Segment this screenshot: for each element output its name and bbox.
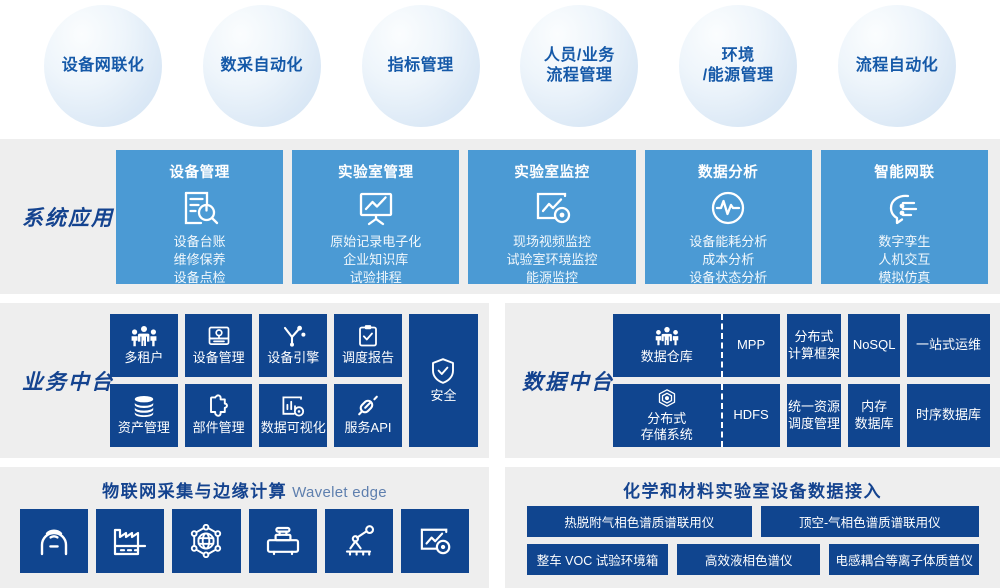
document-search-icon — [179, 187, 221, 229]
app-card-lab-monitoring[interactable]: 实验室监控 现场视频监控 试验室环境监控 能源监控 — [468, 150, 635, 284]
tile-unified-resource-scheduling[interactable]: 统一资源 调度管理 — [787, 384, 842, 447]
tile-label: 统一资源 调度管理 — [788, 399, 840, 432]
app-card-bullets: 数字孪生 人机交互 模拟仿真 — [878, 233, 930, 287]
data-platform-grid: 数据仓库 MPP 分布式 计算框架 NoSQL 一站式运维 — [613, 314, 990, 447]
multi-tenant-people-icon — [131, 325, 157, 347]
capability-bubble[interactable]: 环境 /能源管理 — [679, 5, 797, 127]
business-platform-section: 业务中台 多租户 — [0, 303, 489, 458]
tile-one-stop-ops[interactable]: 一站式运维 — [907, 314, 990, 377]
lab-chip-instrument[interactable]: 顶空-气相色谱质谱联用仪 — [761, 506, 979, 537]
app-card-equipment-management[interactable]: 设备管理 设备台账 维修保养 设备 — [116, 150, 283, 284]
lab-data-access-heading: 化学和材料实验室设备数据接入 — [505, 467, 1000, 502]
ai-head-icon — [883, 187, 925, 229]
app-card-title: 智能网联 — [874, 161, 934, 182]
tile-label: 资产管理 — [118, 420, 170, 436]
tile-label: 多租户 — [124, 350, 163, 366]
app-card-bullet: 设备状态分析 — [689, 269, 767, 287]
app-card-bullet: 能源监控 — [507, 269, 598, 287]
app-card-bullets: 设备能耗分析 成本分析 设备状态分析 — [689, 233, 767, 287]
lab-data-access-section: 化学和材料实验室设备数据接入 热脱附气相色谱质谱联用仪 顶空-气相色谱质谱联用仪… — [505, 467, 1000, 588]
tile-in-memory-database[interactable]: 内存 数据库 — [848, 384, 900, 447]
iot-tile-network[interactable] — [172, 509, 240, 573]
tile-multi-tenant[interactable]: 多租户 — [110, 314, 178, 377]
app-card-intelligent-connectivity[interactable]: 智能网联 数字孪生 人机交互 模拟仿真 — [821, 150, 988, 284]
tile-service-api[interactable]: 服务API — [334, 384, 402, 447]
distributed-storage-icon — [656, 388, 678, 408]
tile-label: HDFS — [733, 407, 768, 423]
app-card-bullet: 人机交互 — [878, 251, 930, 269]
tile-label: 内存 数据库 — [855, 399, 894, 432]
tile-label: 分布式 存储系统 — [641, 411, 693, 444]
lab-data-access-title: 化学和材料实验室设备数据接入 — [623, 482, 882, 501]
app-card-bullet: 试验排程 — [330, 269, 421, 287]
iot-tile-row — [20, 509, 469, 573]
iot-edge-title: 物联网采集与边缘计算 — [102, 482, 287, 501]
tile-security[interactable]: 安全 — [409, 314, 478, 447]
app-card-bullet: 现场视频监控 — [507, 233, 598, 251]
tile-label: 调度报告 — [342, 350, 394, 366]
lab-chip-instrument[interactable]: 电感耦合等离子体质普仪 — [829, 544, 979, 575]
architecture-diagram: 设备网联化 数采自动化 指标管理 人员/业务 流程管理 环境 /能源管理 流程自… — [0, 0, 1000, 588]
capability-bubble[interactable]: 指标管理 — [362, 5, 480, 127]
tile-label: 服务API — [345, 420, 392, 436]
lab-chip-instrument[interactable]: 整车 VOC 试验环境箱 — [527, 544, 668, 575]
iot-tile-factory[interactable] — [96, 509, 164, 573]
section-label-system-applications: 系统应用 — [22, 202, 114, 232]
device-server-icon — [207, 325, 231, 347]
pulse-circle-icon — [707, 187, 749, 229]
app-card-data-analysis[interactable]: 数据分析 设备能耗分析 成本分析 设备状态分析 — [645, 150, 812, 284]
app-card-lab-management[interactable]: 实验室管理 原始记录电子化 企业知识库 试验排程 — [292, 150, 459, 284]
iot-tile-gateway[interactable] — [20, 509, 88, 573]
tile-label: 数据仓库 — [641, 349, 693, 365]
clipboard-check-icon — [357, 324, 379, 347]
wifi-gateway-icon — [37, 525, 71, 557]
tile-distributed-storage[interactable]: 分布式 存储系统 — [613, 384, 721, 447]
monitor-chart-icon — [418, 526, 452, 556]
tile-label: 数据可视化 — [261, 420, 326, 436]
app-card-title: 数据分析 — [698, 161, 758, 182]
capability-label: 指标管理 — [388, 56, 454, 76]
iot-edge-heading: 物联网采集与边缘计算Wavelet edge — [0, 467, 489, 502]
lab-chip-rows: 热脱附气相色谱质谱联用仪 顶空-气相色谱质谱联用仪 整车 VOC 试验环境箱 高… — [527, 506, 979, 582]
iot-tile-robot-arm[interactable] — [325, 509, 393, 573]
capability-label: 人员/业务 流程管理 — [544, 46, 615, 87]
app-card-bullet: 原始记录电子化 — [330, 233, 421, 251]
presentation-chart-icon — [355, 187, 397, 229]
tile-data-warehouse[interactable]: 数据仓库 — [613, 314, 721, 377]
app-card-title: 实验室监控 — [514, 161, 590, 182]
top-capability-row: 设备网联化 数采自动化 指标管理 人员/业务 流程管理 环境 /能源管理 流程自… — [0, 0, 1000, 132]
tile-label: 部件管理 — [193, 420, 245, 436]
robot-arm-icon — [342, 525, 376, 557]
tile-device-engine[interactable]: 设备引擎 — [259, 314, 327, 377]
capability-label: 设备网联化 — [62, 56, 145, 76]
tile-device-management[interactable]: 设备管理 — [185, 314, 253, 377]
tile-label: NoSQL — [853, 337, 896, 353]
lab-chip-instrument[interactable]: 热脱附气相色谱质谱联用仪 — [527, 506, 752, 537]
tile-label: 一站式运维 — [916, 337, 981, 353]
plug-connect-icon — [355, 395, 381, 417]
tile-label: MPP — [737, 337, 765, 353]
business-platform-grid: 多租户 设备管理 — [110, 314, 478, 447]
app-card-bullet: 成本分析 — [689, 251, 767, 269]
app-card-bullet: 数字孪生 — [878, 233, 930, 251]
tile-mpp[interactable]: MPP — [721, 314, 780, 377]
tile-distributed-computing-framework[interactable]: 分布式 计算框架 — [787, 314, 842, 377]
lab-chip-row: 热脱附气相色谱质谱联用仪 顶空-气相色谱质谱联用仪 — [527, 506, 979, 537]
tile-nosql[interactable]: NoSQL — [848, 314, 900, 377]
app-card-bullet: 维修保养 — [174, 251, 226, 269]
network-globe-icon — [189, 524, 223, 558]
lab-chip-row: 整车 VOC 试验环境箱 高效液相色谱仪 电感耦合等离子体质普仪 — [527, 544, 979, 575]
app-card-title: 实验室管理 — [338, 161, 414, 182]
tile-data-warehouse-mpp[interactable]: 数据仓库 MPP — [613, 314, 780, 377]
iot-edge-subtitle: Wavelet edge — [292, 484, 387, 501]
bar-chart-gear-icon — [281, 395, 305, 417]
iot-tile-sensor[interactable] — [249, 509, 317, 573]
data-platform-section: 数据中台 数据仓库 — [505, 303, 1000, 458]
tile-label: 安全 — [430, 388, 456, 404]
section-label-data-platform: 数据中台 — [522, 366, 614, 396]
capability-label: 数采自动化 — [221, 56, 304, 76]
node-branch-icon — [280, 325, 306, 347]
capability-label: 流程自动化 — [856, 56, 939, 76]
app-card-bullet: 设备台账 — [174, 233, 226, 251]
tile-distributed-storage-hdfs[interactable]: 分布式 存储系统 HDFS — [613, 384, 780, 447]
tile-label: 分布式 计算框架 — [788, 329, 840, 362]
tile-time-series-database[interactable]: 时序数据库 — [907, 384, 990, 447]
puzzle-piece-icon — [207, 394, 231, 417]
factory-icon — [112, 526, 148, 556]
multi-tenant-people-icon — [654, 326, 680, 346]
iot-edge-section: 物联网采集与边缘计算Wavelet edge — [0, 467, 489, 588]
capability-bubble[interactable]: 流程自动化 — [838, 5, 956, 127]
app-card-bullet: 设备能耗分析 — [689, 233, 767, 251]
system-applications-grid: 设备管理 设备台账 维修保养 设备 — [116, 150, 988, 284]
capability-bubble[interactable]: 设备网联化 — [44, 5, 162, 127]
tile-label: 设备管理 — [193, 350, 245, 366]
tile-dispatch-report[interactable]: 调度报告 — [334, 314, 402, 377]
app-card-title: 设备管理 — [169, 161, 229, 182]
app-card-bullet: 试验室环境监控 — [507, 251, 598, 269]
tile-hdfs[interactable]: HDFS — [721, 384, 780, 447]
capability-label: 环境 /能源管理 — [703, 46, 774, 87]
app-card-bullets: 原始记录电子化 企业知识库 试验排程 — [330, 233, 421, 287]
tile-data-visualization[interactable]: 数据可视化 — [259, 384, 327, 447]
app-card-bullet: 设备点检 — [174, 269, 226, 287]
industrial-sensor-icon — [265, 526, 301, 556]
lab-chip-instrument[interactable]: 高效液相色谱仪 — [677, 544, 821, 575]
app-card-bullet: 企业知识库 — [330, 251, 421, 269]
capability-bubble[interactable]: 人员/业务 流程管理 — [520, 5, 638, 127]
app-card-bullets: 现场视频监控 试验室环境监控 能源监控 — [507, 233, 598, 287]
coins-stack-icon — [131, 395, 157, 417]
tile-label: 时序数据库 — [916, 407, 981, 423]
monitor-chart-icon — [531, 187, 573, 229]
section-label-business-platform: 业务中台 — [22, 366, 114, 396]
tile-asset-management[interactable]: 资产管理 — [110, 384, 178, 447]
system-applications-section: 系统应用 设备管理 — [0, 139, 1000, 294]
shield-check-icon — [430, 357, 456, 385]
app-card-bullet: 模拟仿真 — [878, 269, 930, 287]
tile-component-management[interactable]: 部件管理 — [185, 384, 253, 447]
app-card-bullets: 设备台账 维修保养 设备点检 — [174, 233, 226, 287]
tile-label: 设备引擎 — [267, 350, 319, 366]
capability-bubble[interactable]: 数采自动化 — [203, 5, 321, 127]
iot-tile-monitoring[interactable] — [401, 509, 469, 573]
